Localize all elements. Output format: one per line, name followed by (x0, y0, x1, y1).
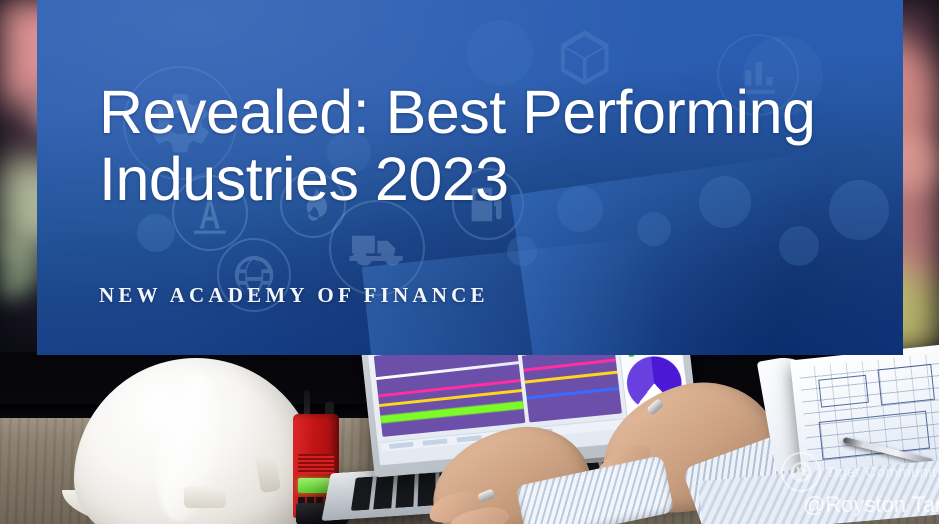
banner-image: Revealed: Best PerformingIndustries 2023… (0, 0, 939, 524)
blueprint-detail (877, 364, 934, 405)
waveform-blue (526, 387, 619, 400)
panel-bokeh-dot (467, 20, 533, 86)
waveform-yellow (525, 371, 618, 384)
tiger-circle-logo-icon (781, 452, 821, 492)
waveform-pink (523, 358, 616, 371)
radio-speaker-grill (298, 454, 334, 474)
page-title: Revealed: Best PerformingIndustries 2023 (99, 79, 903, 213)
page-title-line-2: Industries 2023 (99, 145, 509, 213)
dashboard-tab[interactable] (389, 442, 414, 449)
blueprint-detail (818, 375, 869, 408)
watermark-handle: @Royston Tan (803, 492, 939, 518)
ring (477, 489, 495, 503)
watermark-brand-row: Tiger Community (781, 452, 939, 492)
panel-bokeh-dot (137, 214, 175, 252)
ring (646, 398, 664, 415)
waveform-white (376, 361, 519, 380)
dashboard-tab[interactable] (422, 438, 447, 445)
page-title-line-1: Revealed: Best Performing (99, 78, 815, 146)
blue-overlay-panel: Revealed: Best PerformingIndustries 2023… (37, 0, 903, 355)
hard-hat (62, 358, 330, 524)
brand-subtitle: NEW ACADEMY OF FINANCE (99, 283, 489, 308)
waveform-pink (378, 379, 521, 397)
watermark: Tiger Community @Royston Tan (781, 452, 939, 518)
watermark-brand-text: Tiger Community (826, 464, 939, 481)
hard-hat-front-tab (184, 486, 226, 508)
